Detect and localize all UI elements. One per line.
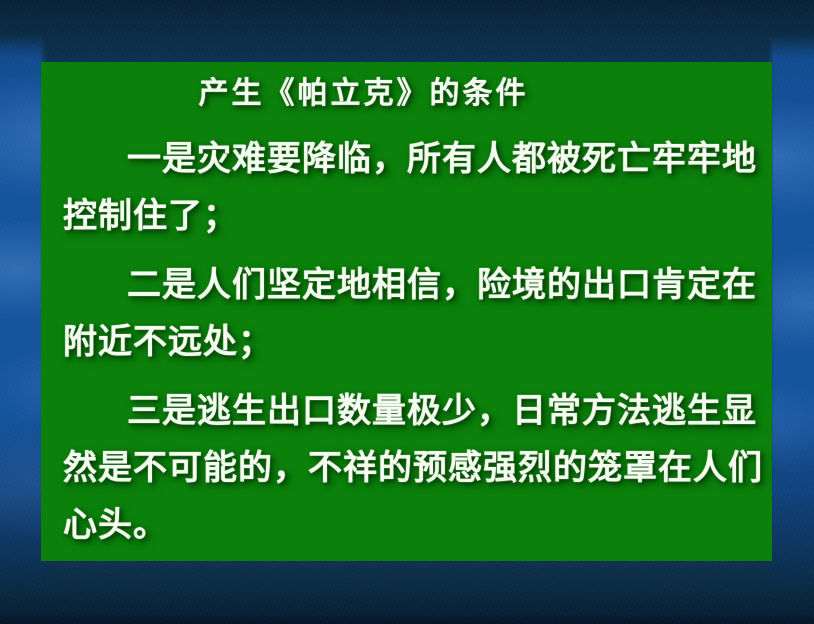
slide-body: 一是灾难要降临，所有人都被死亡牢牢地控制住了； 二是人们坚定地相信，险境的出口肯… bbox=[41, 131, 772, 554]
slide-title: 产生《帕立克》的条件 bbox=[41, 62, 772, 115]
presentation-slide: 产生《帕立克》的条件 一是灾难要降临，所有人都被死亡牢牢地控制住了； 二是人们坚… bbox=[0, 0, 814, 624]
body-paragraph-1: 一是灾难要降临，所有人都被死亡牢牢地控制住了； bbox=[63, 131, 764, 245]
body-paragraph-3: 三是逃生出口数量极少，日常方法逃生显然是不可能的，不祥的预感强烈的笼罩在人们心头… bbox=[63, 383, 764, 554]
body-paragraph-2: 二是人们坚定地相信，险境的出口肯定在附近不远处； bbox=[63, 257, 764, 371]
content-panel: 产生《帕立克》的条件 一是灾难要降临，所有人都被死亡牢牢地控制住了； 二是人们坚… bbox=[41, 62, 772, 561]
